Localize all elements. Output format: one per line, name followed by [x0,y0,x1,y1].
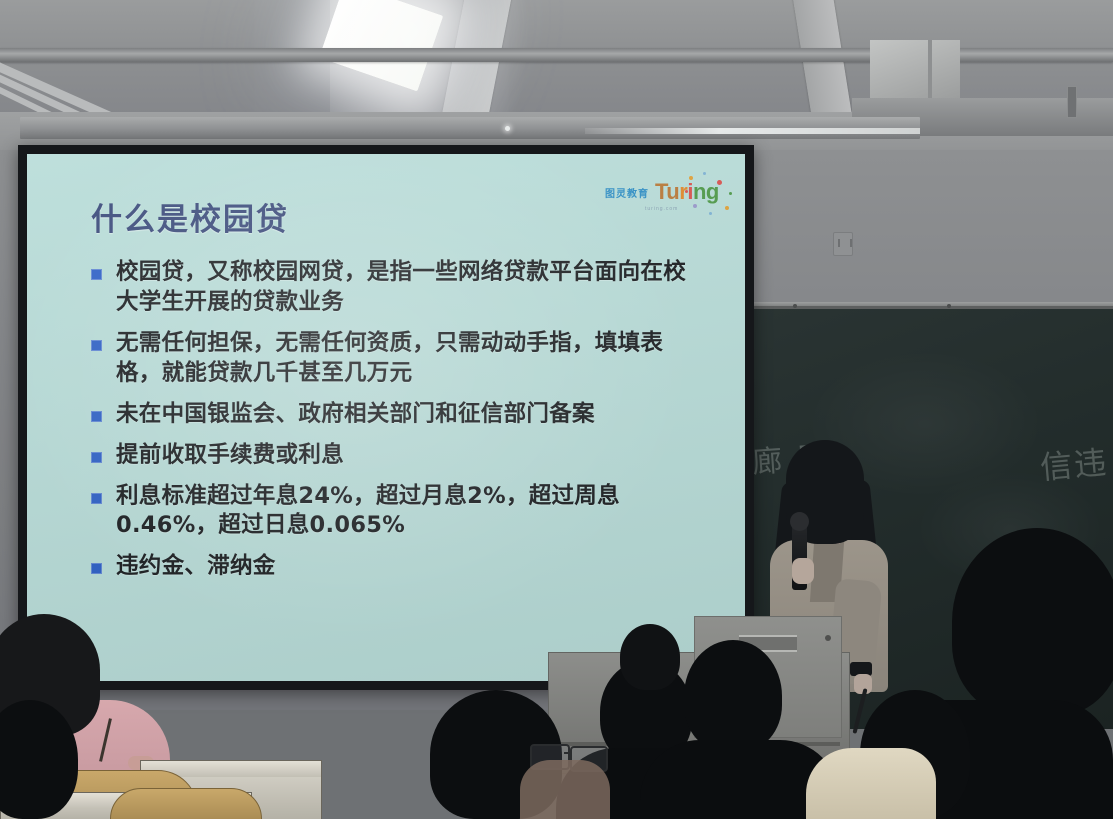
bullet-text: 无需任何担保，无需任何资质，只需动动手指，填填表格，就能贷款几千甚至几万元 [116,329,705,389]
blackboard-screw [793,304,797,308]
chalk-writing-right: 信违 [1038,437,1110,489]
bullet-text: 未在中国银监会、政府相关部门和征信部门备案 [116,400,705,430]
wall-switch-icon[interactable] [1067,86,1077,118]
audience-cream-jacket [806,748,936,819]
list-item: 未在中国银监会、政府相关部门和征信部门备案 [91,400,705,430]
audience-head [952,528,1113,716]
screen-housing-highlight [585,128,920,134]
microphone-head-icon [790,512,809,531]
list-item: 校园贷，又称校园网贷，是指一些网络贷款平台面向在校大学生开展的贷款业务 [91,258,705,318]
audience-face [520,760,610,819]
projection-screen-surface: 什么是校园贷 图灵教育 Turing turing.com [27,154,745,681]
logo-subtitle: turing.com [645,206,678,212]
logo-part-1: Tu [655,179,679,204]
bullet-text: 利息标准超过年息24%，超过月息2%，超过周息0.46%，超过日息0.065% [116,482,705,542]
list-item: 无需任何担保，无需任何资质，只需动动手指，填填表格，就能贷款几千甚至几万元 [91,329,705,389]
bullet-text: 提前收取手续费或利息 [116,441,705,471]
presentation-slide: 什么是校园贷 图灵教育 Turing turing.com [27,154,745,681]
presenter-hand-holding-mic [792,558,814,584]
lectern-knob-icon [825,635,831,641]
list-item: 利息标准超过年息24%，超过月息2%，超过周息0.46%，超过日息0.065% [91,482,705,542]
ceiling-mount-plate [870,40,960,102]
logo-chinese-text: 图灵教育 [605,185,649,200]
classroom-photo-scene: 廊 馬 信违 什么是校园贷 图灵教育 Turing turing.com [0,0,1113,819]
blackboard-screw [947,304,951,308]
slide-title: 什么是校园贷 [91,194,289,239]
logo-decoration-dots [687,172,739,216]
list-item: 违约金、滞纳金 [91,552,705,582]
power-outlet-icon [833,232,853,256]
projection-screen-frame: 什么是校园贷 图灵教育 Turing turing.com [18,145,754,690]
bullet-square-icon [91,493,102,504]
bullet-square-icon [91,452,102,463]
bullet-square-icon [91,563,102,574]
ceiling-mount-rod [928,40,932,100]
eyeglasses-bridge-icon [564,752,572,754]
bullet-square-icon [91,269,102,280]
list-item: 提前收取手续费或利息 [91,441,705,471]
audience-head [684,640,782,752]
bullet-square-icon [91,411,102,422]
bullet-text: 违约金、滞纳金 [116,552,705,582]
slide-bullet-list: 校园贷，又称校园网贷，是指一些网络贷款平台面向在校大学生开展的贷款业务 无需任何… [91,258,705,593]
chair [110,788,262,819]
bullet-square-icon [91,340,102,351]
housing-led-icon [505,126,510,131]
bullet-text: 校园贷，又称校园网贷，是指一些网络贷款平台面向在校大学生开展的贷款业务 [116,258,705,318]
audience-head [620,624,680,690]
